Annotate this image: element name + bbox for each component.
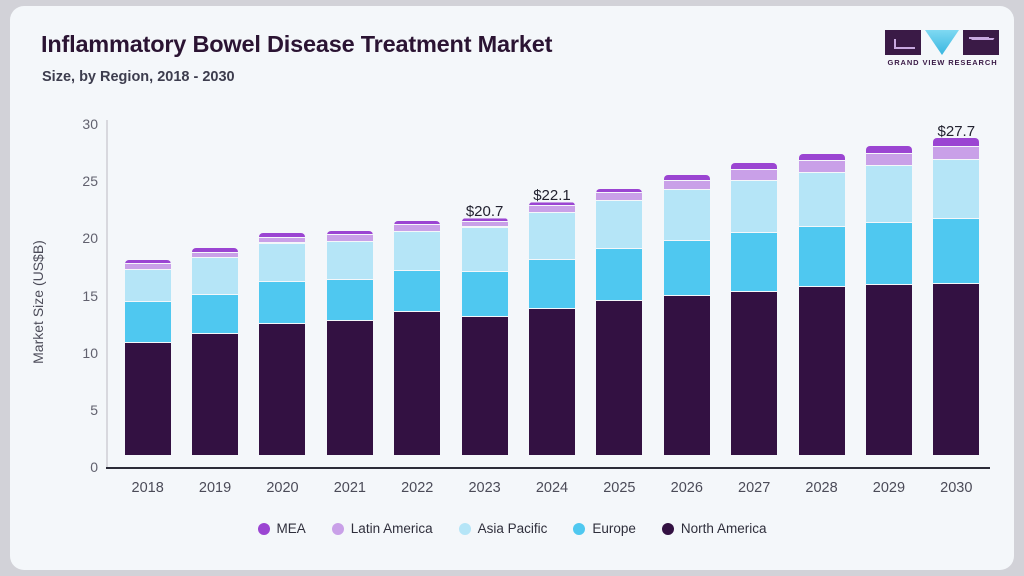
y-tick-label: 20 <box>58 230 98 246</box>
bar-group[interactable] <box>529 202 575 455</box>
legend-item-mea[interactable]: MEA <box>258 521 306 536</box>
legend-label: North America <box>681 521 767 536</box>
bar-segment-asia-pacific[interactable] <box>933 160 979 219</box>
bar-segment-asia-pacific[interactable] <box>664 190 710 241</box>
bar-segment-latin-america[interactable] <box>731 170 777 180</box>
y-tick-label: 5 <box>58 402 98 418</box>
bar-group[interactable] <box>327 231 373 455</box>
y-tick-label: 30 <box>58 116 98 132</box>
legend-color-swatch-icon <box>459 523 471 535</box>
bar-group[interactable] <box>394 221 440 455</box>
bar-group[interactable] <box>933 138 979 455</box>
bar-segment-asia-pacific[interactable] <box>799 173 845 228</box>
bar-segment-asia-pacific[interactable] <box>462 228 508 273</box>
y-tick-label: 10 <box>58 345 98 361</box>
legend-label: MEA <box>277 521 306 536</box>
legend-color-swatch-icon <box>573 523 585 535</box>
legend-item-north-america[interactable]: North America <box>662 521 767 536</box>
legend-color-swatch-icon <box>332 523 344 535</box>
bar-segment-europe[interactable] <box>462 272 508 317</box>
bar-segment-asia-pacific[interactable] <box>259 244 305 283</box>
bar-segment-mea[interactable] <box>731 163 777 170</box>
bar-group[interactable] <box>462 218 508 455</box>
bar-segment-mea[interactable] <box>125 260 171 265</box>
bar-segment-latin-america[interactable] <box>866 154 912 165</box>
bar-group[interactable] <box>596 189 642 455</box>
y-axis-label: Market Size (US$B) <box>30 202 46 402</box>
legend-label: Europe <box>592 521 636 536</box>
bar-segment-europe[interactable] <box>125 302 171 343</box>
bar-segment-latin-america[interactable] <box>327 235 373 242</box>
bar-segment-asia-pacific[interactable] <box>192 258 238 295</box>
bar-segment-asia-pacific[interactable] <box>731 181 777 234</box>
legend-item-latin-america[interactable]: Latin America <box>332 521 433 536</box>
bar-segment-europe[interactable] <box>394 271 440 312</box>
bar-segment-north-america[interactable] <box>596 301 642 455</box>
bar-segment-north-america[interactable] <box>125 343 171 455</box>
bar-segment-north-america[interactable] <box>799 287 845 455</box>
legend-color-swatch-icon <box>662 523 674 535</box>
bar-group[interactable] <box>125 260 171 456</box>
chart-card: Inflammatory Bowel Disease Treatment Mar… <box>10 6 1014 570</box>
bar-segment-europe[interactable] <box>327 280 373 321</box>
bar-segment-mea[interactable] <box>866 146 912 154</box>
bar-segment-mea[interactable] <box>664 175 710 181</box>
y-axis-line <box>106 120 108 468</box>
bar-segment-europe[interactable] <box>596 249 642 300</box>
bar-segment-europe[interactable] <box>866 223 912 285</box>
bar-group[interactable] <box>799 154 845 455</box>
bar-segment-mea[interactable] <box>394 221 440 226</box>
bar-segment-europe[interactable] <box>799 227 845 286</box>
bar-segment-mea[interactable] <box>596 189 642 194</box>
bar-group[interactable] <box>192 248 238 455</box>
legend-item-europe[interactable]: Europe <box>573 521 636 536</box>
bar-segment-mea[interactable] <box>259 233 305 238</box>
bar-segment-asia-pacific[interactable] <box>327 242 373 280</box>
x-axis-line <box>106 467 990 469</box>
bar-segment-asia-pacific[interactable] <box>394 232 440 271</box>
bar-segment-north-america[interactable] <box>462 317 508 455</box>
bar-segment-latin-america[interactable] <box>125 264 171 270</box>
bar-segment-europe[interactable] <box>731 233 777 291</box>
stacked-bar-chart: Market Size (US$B) 051015202530 20182019… <box>10 6 1014 570</box>
y-tick-label: 0 <box>58 459 98 475</box>
chart-legend: MEALatin AmericaAsia PacificEuropeNorth … <box>10 521 1014 536</box>
bar-segment-europe[interactable] <box>192 295 238 334</box>
y-tick-label: 25 <box>58 173 98 189</box>
bar-segment-latin-america[interactable] <box>462 222 508 228</box>
bar-segment-latin-america[interactable] <box>394 225 440 232</box>
y-tick-label: 15 <box>58 288 98 304</box>
bar-segment-asia-pacific[interactable] <box>529 213 575 260</box>
bar-segment-latin-america[interactable] <box>192 253 238 259</box>
x-tick-label: 2030 <box>916 480 996 496</box>
bar-segment-asia-pacific[interactable] <box>866 166 912 223</box>
bar-segment-asia-pacific[interactable] <box>125 270 171 302</box>
bar-group[interactable] <box>664 175 710 455</box>
bar-segment-north-america[interactable] <box>529 309 575 455</box>
bar-segment-mea[interactable] <box>192 248 238 253</box>
bar-segment-latin-america[interactable] <box>529 206 575 213</box>
bar-segment-europe[interactable] <box>259 282 305 323</box>
bar-value-label: $22.1 <box>507 187 597 204</box>
bar-group[interactable] <box>259 233 305 455</box>
bar-segment-north-america[interactable] <box>327 321 373 455</box>
bar-segment-mea[interactable] <box>799 154 845 161</box>
bar-segment-latin-america[interactable] <box>664 181 710 190</box>
bar-group[interactable] <box>866 146 912 455</box>
bar-segment-latin-america[interactable] <box>933 147 979 160</box>
bar-segment-north-america[interactable] <box>933 284 979 456</box>
bar-segment-europe[interactable] <box>529 260 575 309</box>
bar-segment-latin-america[interactable] <box>259 238 305 244</box>
bar-segment-europe[interactable] <box>933 219 979 283</box>
bar-segment-north-america[interactable] <box>731 292 777 455</box>
bar-segment-north-america[interactable] <box>259 324 305 455</box>
legend-label: Asia Pacific <box>478 521 548 536</box>
bar-segment-latin-america[interactable] <box>799 161 845 172</box>
bar-segment-north-america[interactable] <box>192 334 238 455</box>
bar-segment-mea[interactable] <box>327 231 373 236</box>
legend-label: Latin America <box>351 521 433 536</box>
legend-item-asia-pacific[interactable]: Asia Pacific <box>459 521 548 536</box>
bar-segment-asia-pacific[interactable] <box>596 201 642 249</box>
bar-segment-north-america[interactable] <box>664 296 710 455</box>
bar-segment-north-america[interactable] <box>394 312 440 455</box>
bar-value-label: $27.7 <box>911 123 1001 140</box>
bar-segment-europe[interactable] <box>664 241 710 296</box>
bar-group[interactable] <box>731 163 777 455</box>
bar-value-label: $20.7 <box>440 203 530 220</box>
bar-segment-north-america[interactable] <box>866 285 912 455</box>
bar-segment-latin-america[interactable] <box>596 193 642 201</box>
legend-color-swatch-icon <box>258 523 270 535</box>
